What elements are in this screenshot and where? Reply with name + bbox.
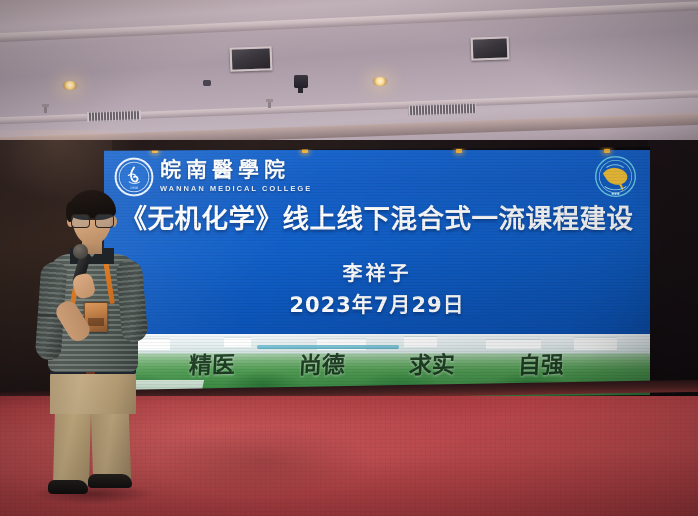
glasses-lens-right	[95, 214, 114, 228]
ceiling-beam-trim	[0, 0, 698, 43]
presenter-shoe-left	[48, 480, 88, 494]
presenter-shoe-right	[88, 474, 132, 488]
slide-title: 《无机化学》线上线下混合式一流课程建设	[104, 205, 650, 235]
presenter-trousers	[50, 372, 136, 414]
sprinkler-icon	[44, 106, 47, 113]
downlight-icon	[62, 81, 78, 90]
glasses-icon	[71, 214, 114, 226]
campus-building	[574, 337, 618, 350]
institution-name: 皖南醫學院 WANNAN MEDICAL COLLEGE	[160, 158, 312, 194]
air-vent-icon	[471, 36, 510, 60]
microphone-head-icon	[73, 244, 88, 259]
presenter-leg-left	[53, 410, 91, 487]
campus-building	[404, 336, 437, 347]
air-grille-icon	[408, 103, 476, 116]
air-vent-icon	[230, 46, 273, 71]
campus-building	[486, 339, 541, 349]
ceiling-projector-icon	[294, 75, 308, 88]
sprinkler-icon	[268, 101, 271, 108]
wannan-medical-college-logo-icon: 1958	[114, 157, 154, 197]
carpet-shadow	[160, 426, 370, 496]
institution-name-en: WANNAN MEDICAL COLLEGE	[160, 183, 312, 194]
svg-text:●●●: ●●●	[611, 192, 619, 196]
air-grille-icon	[87, 110, 141, 122]
led-display-screen: 1958 皖南醫學院 WANNAN MEDICAL COLLEGE ●●● 《无…	[104, 147, 650, 400]
glasses-lens-left	[71, 214, 90, 228]
right-wall-panel	[648, 140, 698, 440]
ceiling	[0, 0, 698, 148]
svg-text:1958: 1958	[130, 186, 138, 190]
glasses-bridge	[88, 218, 95, 220]
slide-speaker-name: 李祥子	[104, 257, 650, 286]
slide-date: 2023年7月29日	[104, 289, 650, 319]
presenter-leg-right	[91, 409, 131, 482]
china-map-emblem-icon: ●●●	[593, 154, 638, 199]
conference-photo: 1958 皖南醫學院 WANNAN MEDICAL COLLEGE ●●● 《无…	[0, 0, 698, 516]
institution-name-cn: 皖南醫學院	[160, 158, 312, 181]
smoke-sensor-icon	[203, 80, 211, 86]
campus-lake	[257, 345, 399, 349]
slide-header: 1958 皖南醫學院 WANNAN MEDICAL COLLEGE ●●●	[104, 151, 650, 199]
campus-building	[224, 337, 251, 347]
downlight-icon	[372, 77, 388, 86]
presenter-figure	[26, 196, 156, 496]
